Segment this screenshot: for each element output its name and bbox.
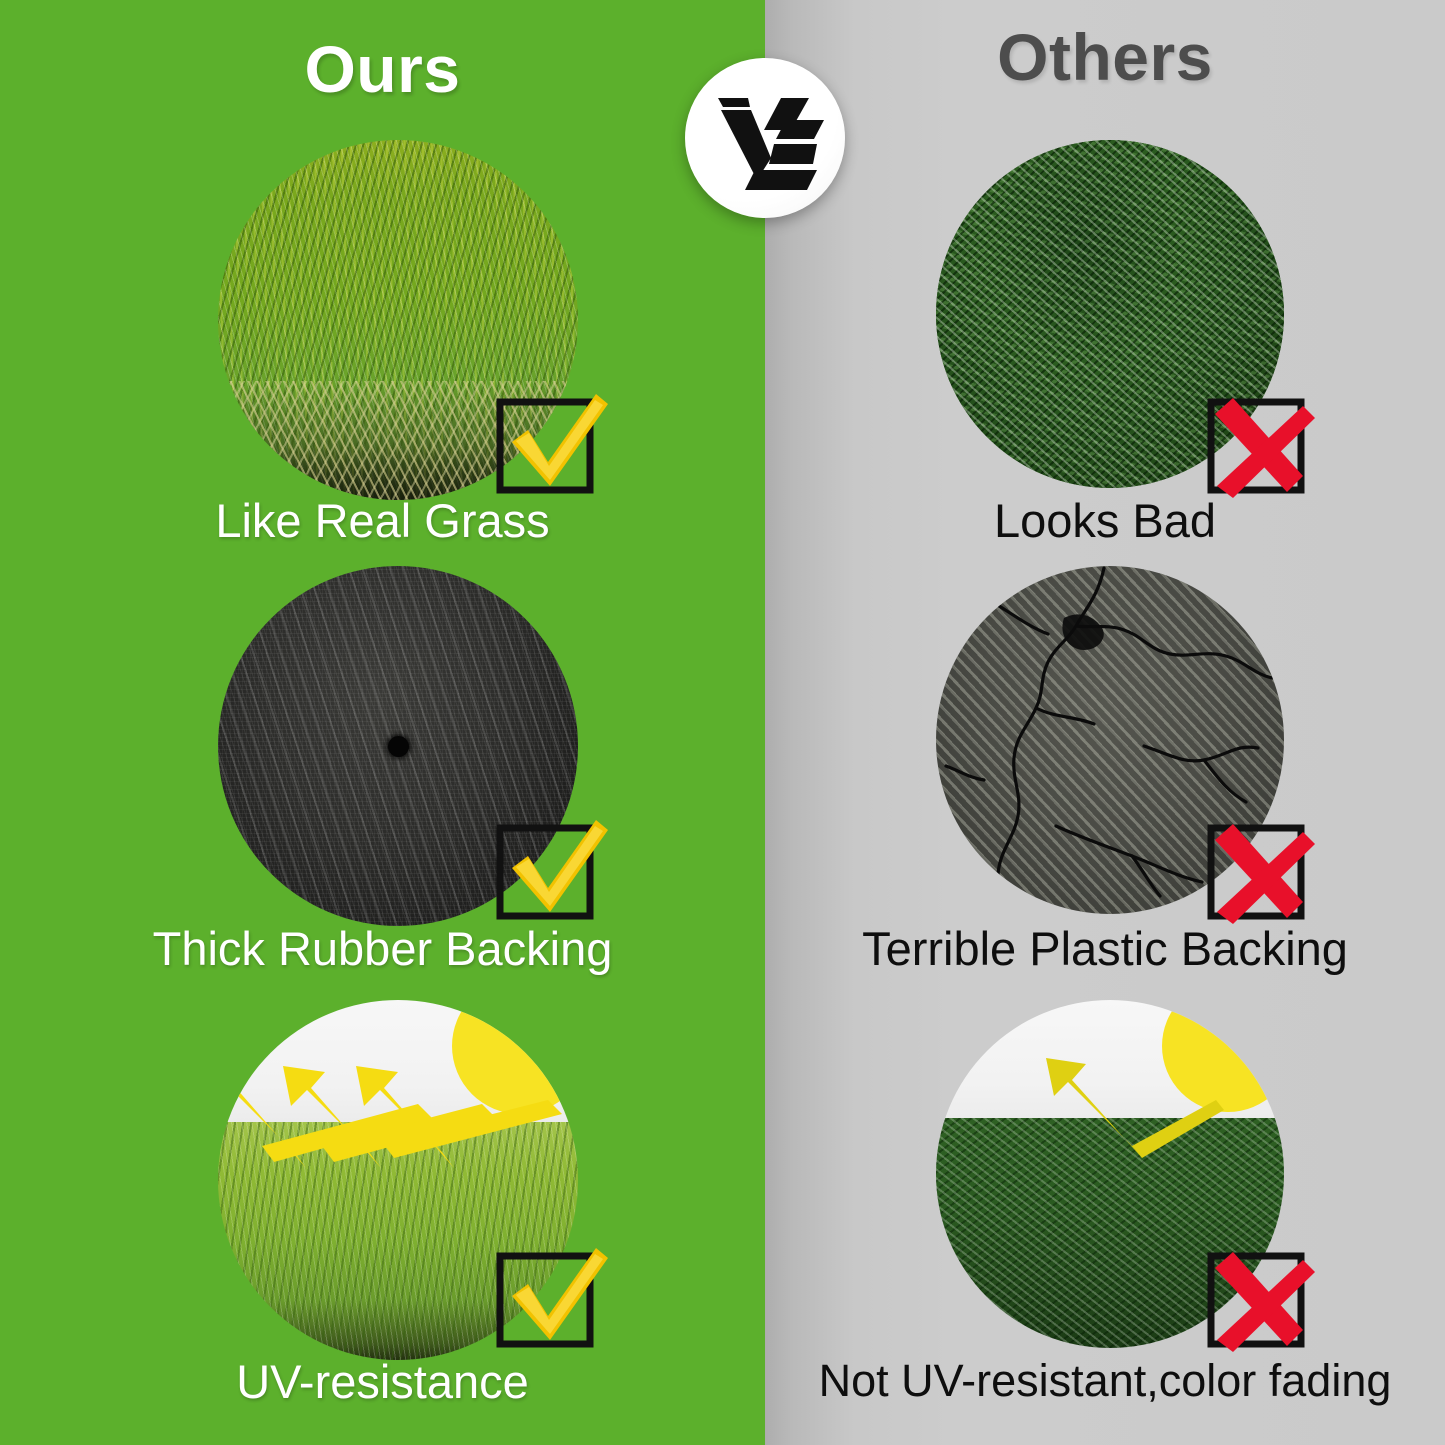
cross-icon [1203, 1246, 1321, 1352]
vs-badge [685, 58, 845, 218]
caption-right-backing: Terrible Plastic Backing [765, 925, 1445, 972]
check-icon [492, 818, 610, 924]
cross-icon [1203, 818, 1321, 924]
vs-icon [685, 58, 845, 218]
sun-icon [452, 1000, 578, 1114]
drainage-hole [388, 736, 409, 757]
caption-left-uv: UV-resistance [0, 1358, 765, 1405]
caption-right-appearance: Looks Bad [765, 497, 1445, 544]
sun-icon [1162, 1000, 1284, 1112]
caption-right-uv: Not UV-resistant,color fading [765, 1358, 1445, 1403]
caption-left-appearance: Like Real Grass [0, 497, 765, 544]
check-icon [492, 392, 610, 498]
page-title-ours: Ours [0, 36, 765, 102]
caption-left-backing: Thick Rubber Backing [0, 925, 765, 972]
cross-icon [1203, 392, 1321, 498]
page-title-others: Others [765, 24, 1445, 90]
check-icon [492, 1246, 610, 1352]
comparison-infographic: Ours Others [0, 0, 1445, 1445]
